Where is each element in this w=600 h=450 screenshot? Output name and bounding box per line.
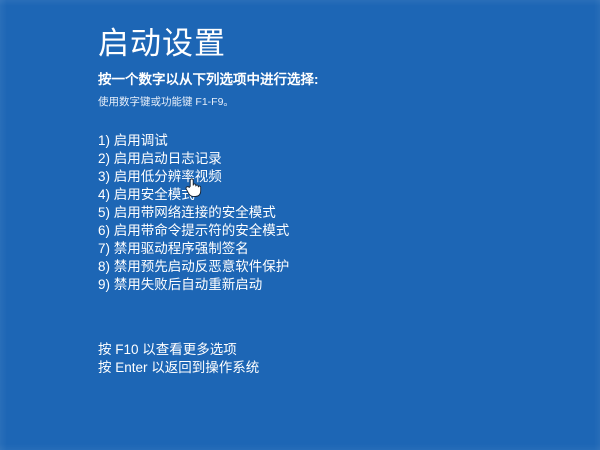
return-to-os-line[interactable]: 按 Enter 以返回到操作系统 [98,359,558,377]
boot-option-5[interactable]: 5) 启用带网络连接的安全模式 [98,204,558,222]
footer-instructions: 按 F10 以查看更多选项 按 Enter 以返回到操作系统 [98,341,558,377]
boot-option-1[interactable]: 1) 启用调试 [98,132,558,150]
boot-option-6[interactable]: 6) 启用带命令提示符的安全模式 [98,222,558,240]
key-hint: 使用数字键或功能键 F1-F9。 [98,95,558,109]
more-options-line[interactable]: 按 F10 以查看更多选项 [98,341,558,359]
boot-option-2[interactable]: 2) 启用启动日志记录 [98,150,558,168]
content-container: 启动设置 按一个数字以从下列选项中进行选择: 使用数字键或功能键 F1-F9。 … [98,26,558,377]
startup-settings-screen: 启动设置 按一个数字以从下列选项中进行选择: 使用数字键或功能键 F1-F9。 … [0,0,600,450]
boot-option-4[interactable]: 4) 启用安全模式 [98,186,558,204]
selection-instruction: 按一个数字以从下列选项中进行选择: [98,71,558,88]
page-title: 启动设置 [98,26,558,62]
boot-options-list: 1) 启用调试 2) 启用启动日志记录 3) 启用低分辨率视频 4) 启用安全模… [98,132,558,294]
boot-option-8[interactable]: 8) 禁用预先启动反恶意软件保护 [98,258,558,276]
boot-option-9[interactable]: 9) 禁用失败后自动重新启动 [98,276,558,294]
boot-option-3[interactable]: 3) 启用低分辨率视频 [98,168,558,186]
boot-option-7[interactable]: 7) 禁用驱动程序强制签名 [98,240,558,258]
